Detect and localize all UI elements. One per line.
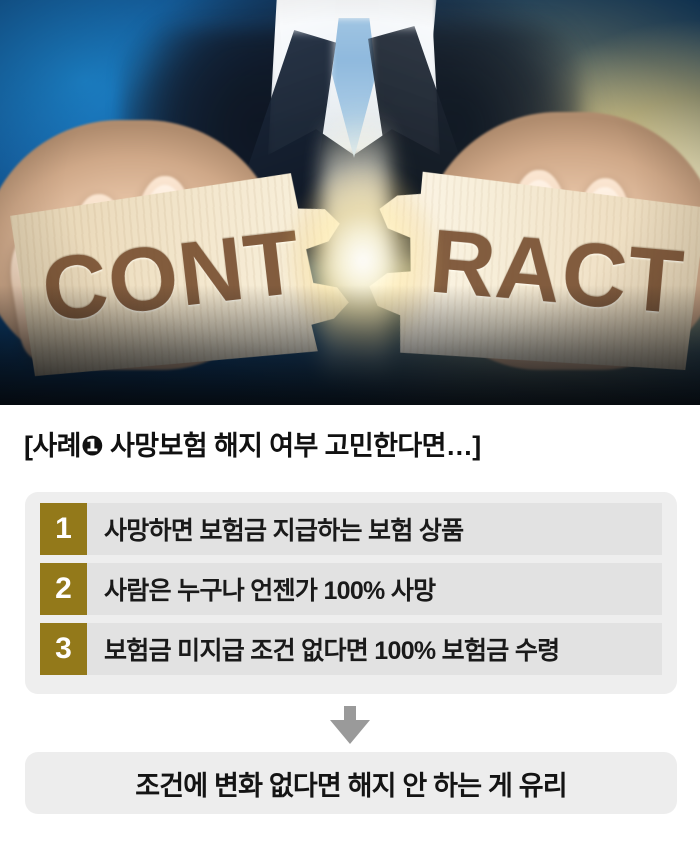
conclusion-text: 조건에 변화 없다면 해지 안 하는 게 유리 — [135, 764, 567, 803]
list-item-number-badge: 1 — [40, 503, 87, 555]
list-item-label: 사망하면 보험금 지급하는 보험 상품 — [87, 511, 662, 547]
header-photo: CONT RACT — [0, 0, 700, 405]
points-panel: 1 사망하면 보험금 지급하는 보험 상품 2 사람은 누구나 언젠가 100%… — [25, 492, 677, 694]
photo-vignette — [0, 0, 700, 405]
list-item-label: 사람은 누구나 언젠가 100% 사망 — [87, 571, 662, 607]
infographic-page: CONT RACT [사례❶ 사망보험 해지 여부 고민한다면…] 1 사망하면… — [0, 0, 700, 842]
list-item: 2 사람은 누구나 언젠가 100% 사망 — [40, 563, 662, 615]
list-item: 1 사망하면 보험금 지급하는 보험 상품 — [40, 503, 662, 555]
list-item-label: 보험금 미지급 조건 없다면 100% 보험금 수령 — [87, 631, 662, 667]
arrow-down-icon — [326, 706, 374, 746]
list-item: 3 보험금 미지급 조건 없다면 100% 보험금 수령 — [40, 623, 662, 675]
page-title: [사례❶ 사망보험 해지 여부 고민한다면…] — [24, 424, 481, 463]
list-item-number-badge: 2 — [40, 563, 87, 615]
list-item-number-badge: 3 — [40, 623, 87, 675]
conclusion-banner: 조건에 변화 없다면 해지 안 하는 게 유리 — [25, 752, 677, 814]
